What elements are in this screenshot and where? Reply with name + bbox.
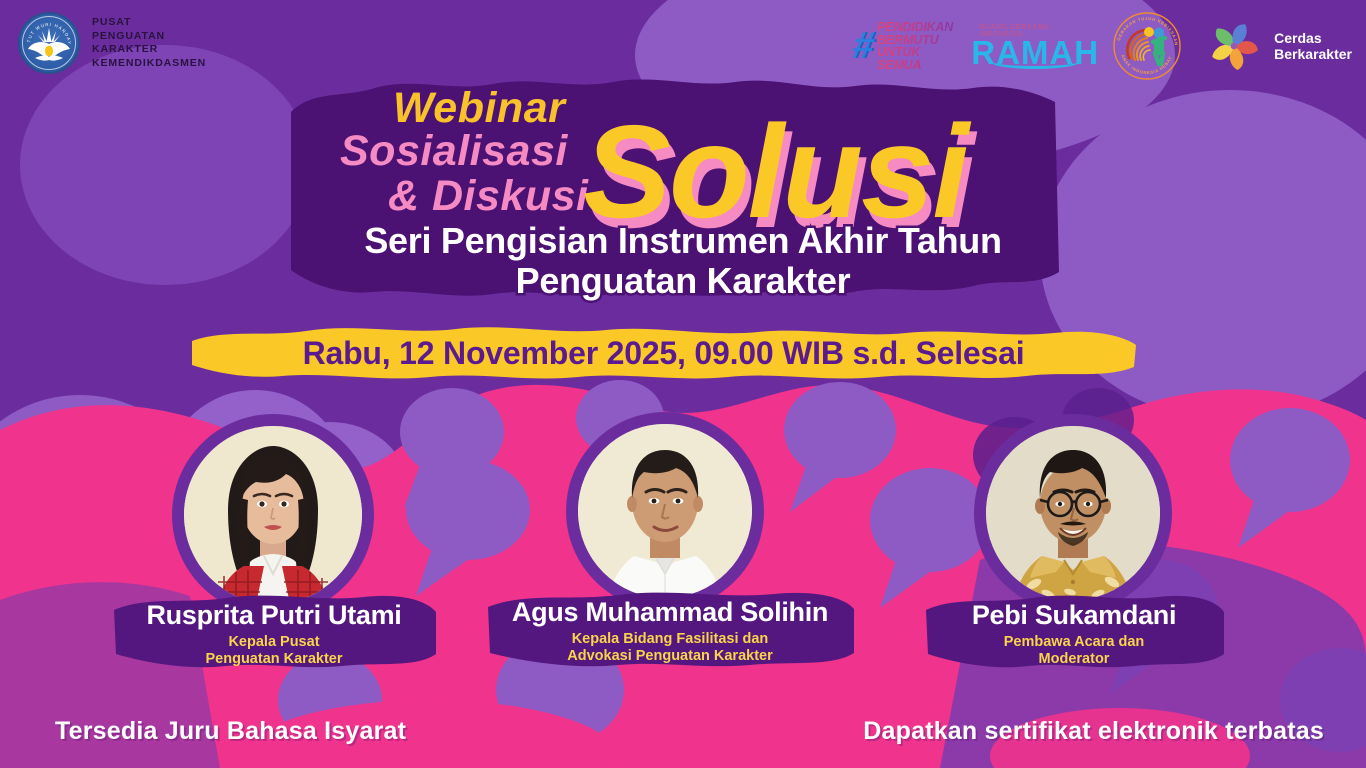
pendidikan-bermutu-logo: # PENDIDIKAN BERMUTU UNTUK SEMUA — [853, 22, 961, 70]
tut-wuri-handayani-logo: TUT WURI HANDAYANI — [18, 12, 80, 74]
footer-right-text: Dapatkan sertifikat elektronik terbatas — [863, 717, 1324, 746]
pendidikan-line-1: PENDIDIKAN — [877, 21, 961, 34]
footer-left-text: Tersedia Juru Bahasa Isyarat — [55, 717, 406, 746]
speaker-3-name: Pebi Sukamdani — [918, 600, 1230, 631]
portrait-woman-red-plaid-blazer — [184, 426, 362, 604]
header-left-logo-group: TUT WURI HANDAYANI PUSA — [18, 12, 206, 74]
logo-line-4: KEMENDIKDASMEN — [92, 57, 206, 71]
logo-glyph: TUT WURI HANDAYANI — [18, 12, 80, 74]
speaker-2-name-brush: Agus Muhammad Solihin Kepala Bidang Fasi… — [480, 585, 860, 677]
title-subtitle-line-2: Penguatan Karakter — [333, 260, 1033, 302]
gerakan-tujuh-kebiasaan-logo: GERAKAN TUJUH KEBIASAAN ANAK INDONESIA H… — [1109, 8, 1185, 84]
speaker-2-name: Agus Muhammad Solihin — [480, 597, 860, 628]
title-diskusi: & Diskusi — [388, 172, 588, 221]
date-text: Rabu, 12 November 2025, 09.00 WIB s.d. S… — [186, 325, 1141, 381]
pinwheel-icon — [1203, 15, 1265, 77]
speaker-3-photo — [986, 426, 1160, 600]
speaker-2-role: Kepala Bidang Fasilitasi dan Advokasi Pe… — [480, 631, 860, 665]
speaker-1-name: Rusprita Putri Utami — [106, 600, 442, 631]
ramah-tagline: RUANG BERSAMA INDONESIA — [979, 24, 1091, 38]
pendidikan-bermutu-text: PENDIDIKAN BERMUTU UNTUK SEMUA — [877, 21, 961, 71]
speaker-1-photo — [184, 426, 362, 604]
speaker-2-photo-ring — [572, 418, 758, 604]
cerdas-line-2: Berkarakter — [1274, 46, 1352, 62]
speaker-1-role: Kepala Pusat Penguatan Karakter — [106, 634, 442, 668]
portrait-man-glasses-gold-batik — [986, 426, 1160, 600]
hashtag-icon: # — [850, 27, 878, 65]
speaker-1-name-brush: Rusprita Putri Utami Kepala Pusat Pengua… — [106, 588, 442, 678]
title-subtitle-line-1: Seri Pengisian Instrumen Akhir Tahun — [333, 220, 1033, 262]
title-panel: Webinar Sosialisasi & Diskusi Solusi Sol… — [283, 72, 1065, 302]
logo-line-1: PUSAT — [92, 16, 206, 30]
title-solusi-wrap: Solusi Solusi — [583, 112, 967, 232]
logo-line-2: PENGUATAN — [92, 30, 206, 44]
speaker-3-role-line-1: Pembawa Acara dan — [918, 634, 1230, 651]
ramah-smile-icon — [989, 53, 1081, 69]
speaker-3-role: Pembawa Acara dan Moderator — [918, 634, 1230, 668]
speaker-1-photo-ring — [178, 420, 368, 610]
cerdas-line-1: Cerdas — [1274, 30, 1352, 46]
gtk-glyph: GERAKAN TUJUH KEBIASAAN ANAK INDONESIA H… — [1109, 8, 1185, 84]
speaker-3-role-line-2: Moderator — [918, 651, 1230, 668]
speaker-2-role-line-1: Kepala Bidang Fasilitasi dan — [480, 631, 860, 648]
logo-line-3: KARAKTER — [92, 43, 206, 57]
pinwheel-glyph — [1203, 15, 1265, 77]
ramah-logo: RUANG BERSAMA INDONESIA RAMAH — [979, 21, 1091, 71]
cerdas-berkarakter-logo: Cerdas Berkarakter — [1203, 15, 1352, 77]
speaker-1-role-line-1: Kepala Pusat — [106, 634, 442, 651]
speaker-2-photo — [578, 424, 752, 598]
webinar-poster: TUT WURI HANDAYANI PUSA — [0, 0, 1366, 768]
speaker-3-name-brush: Pebi Sukamdani Pembawa Acara dan Moderat… — [918, 588, 1230, 678]
cerdas-berkarakter-text: Cerdas Berkarakter — [1274, 30, 1352, 62]
header-left-logo-text: PUSAT PENGUATAN KARAKTER KEMENDIKDASMEN — [92, 16, 206, 70]
date-banner: Rabu, 12 November 2025, 09.00 WIB s.d. S… — [186, 325, 1141, 381]
title-webinar: Webinar — [393, 84, 565, 133]
portrait-man-white-shirt — [578, 424, 752, 598]
title-sosialisasi: Sosialisasi — [340, 127, 568, 176]
speaker-3-photo-ring — [980, 420, 1166, 606]
speaker-2-role-line-2: Advokasi Penguatan Karakter — [480, 648, 860, 665]
title-solusi: Solusi — [583, 112, 967, 232]
pendidikan-line-3: UNTUK SEMUA — [877, 46, 961, 71]
speaker-1-role-line-2: Penguatan Karakter — [106, 651, 442, 668]
